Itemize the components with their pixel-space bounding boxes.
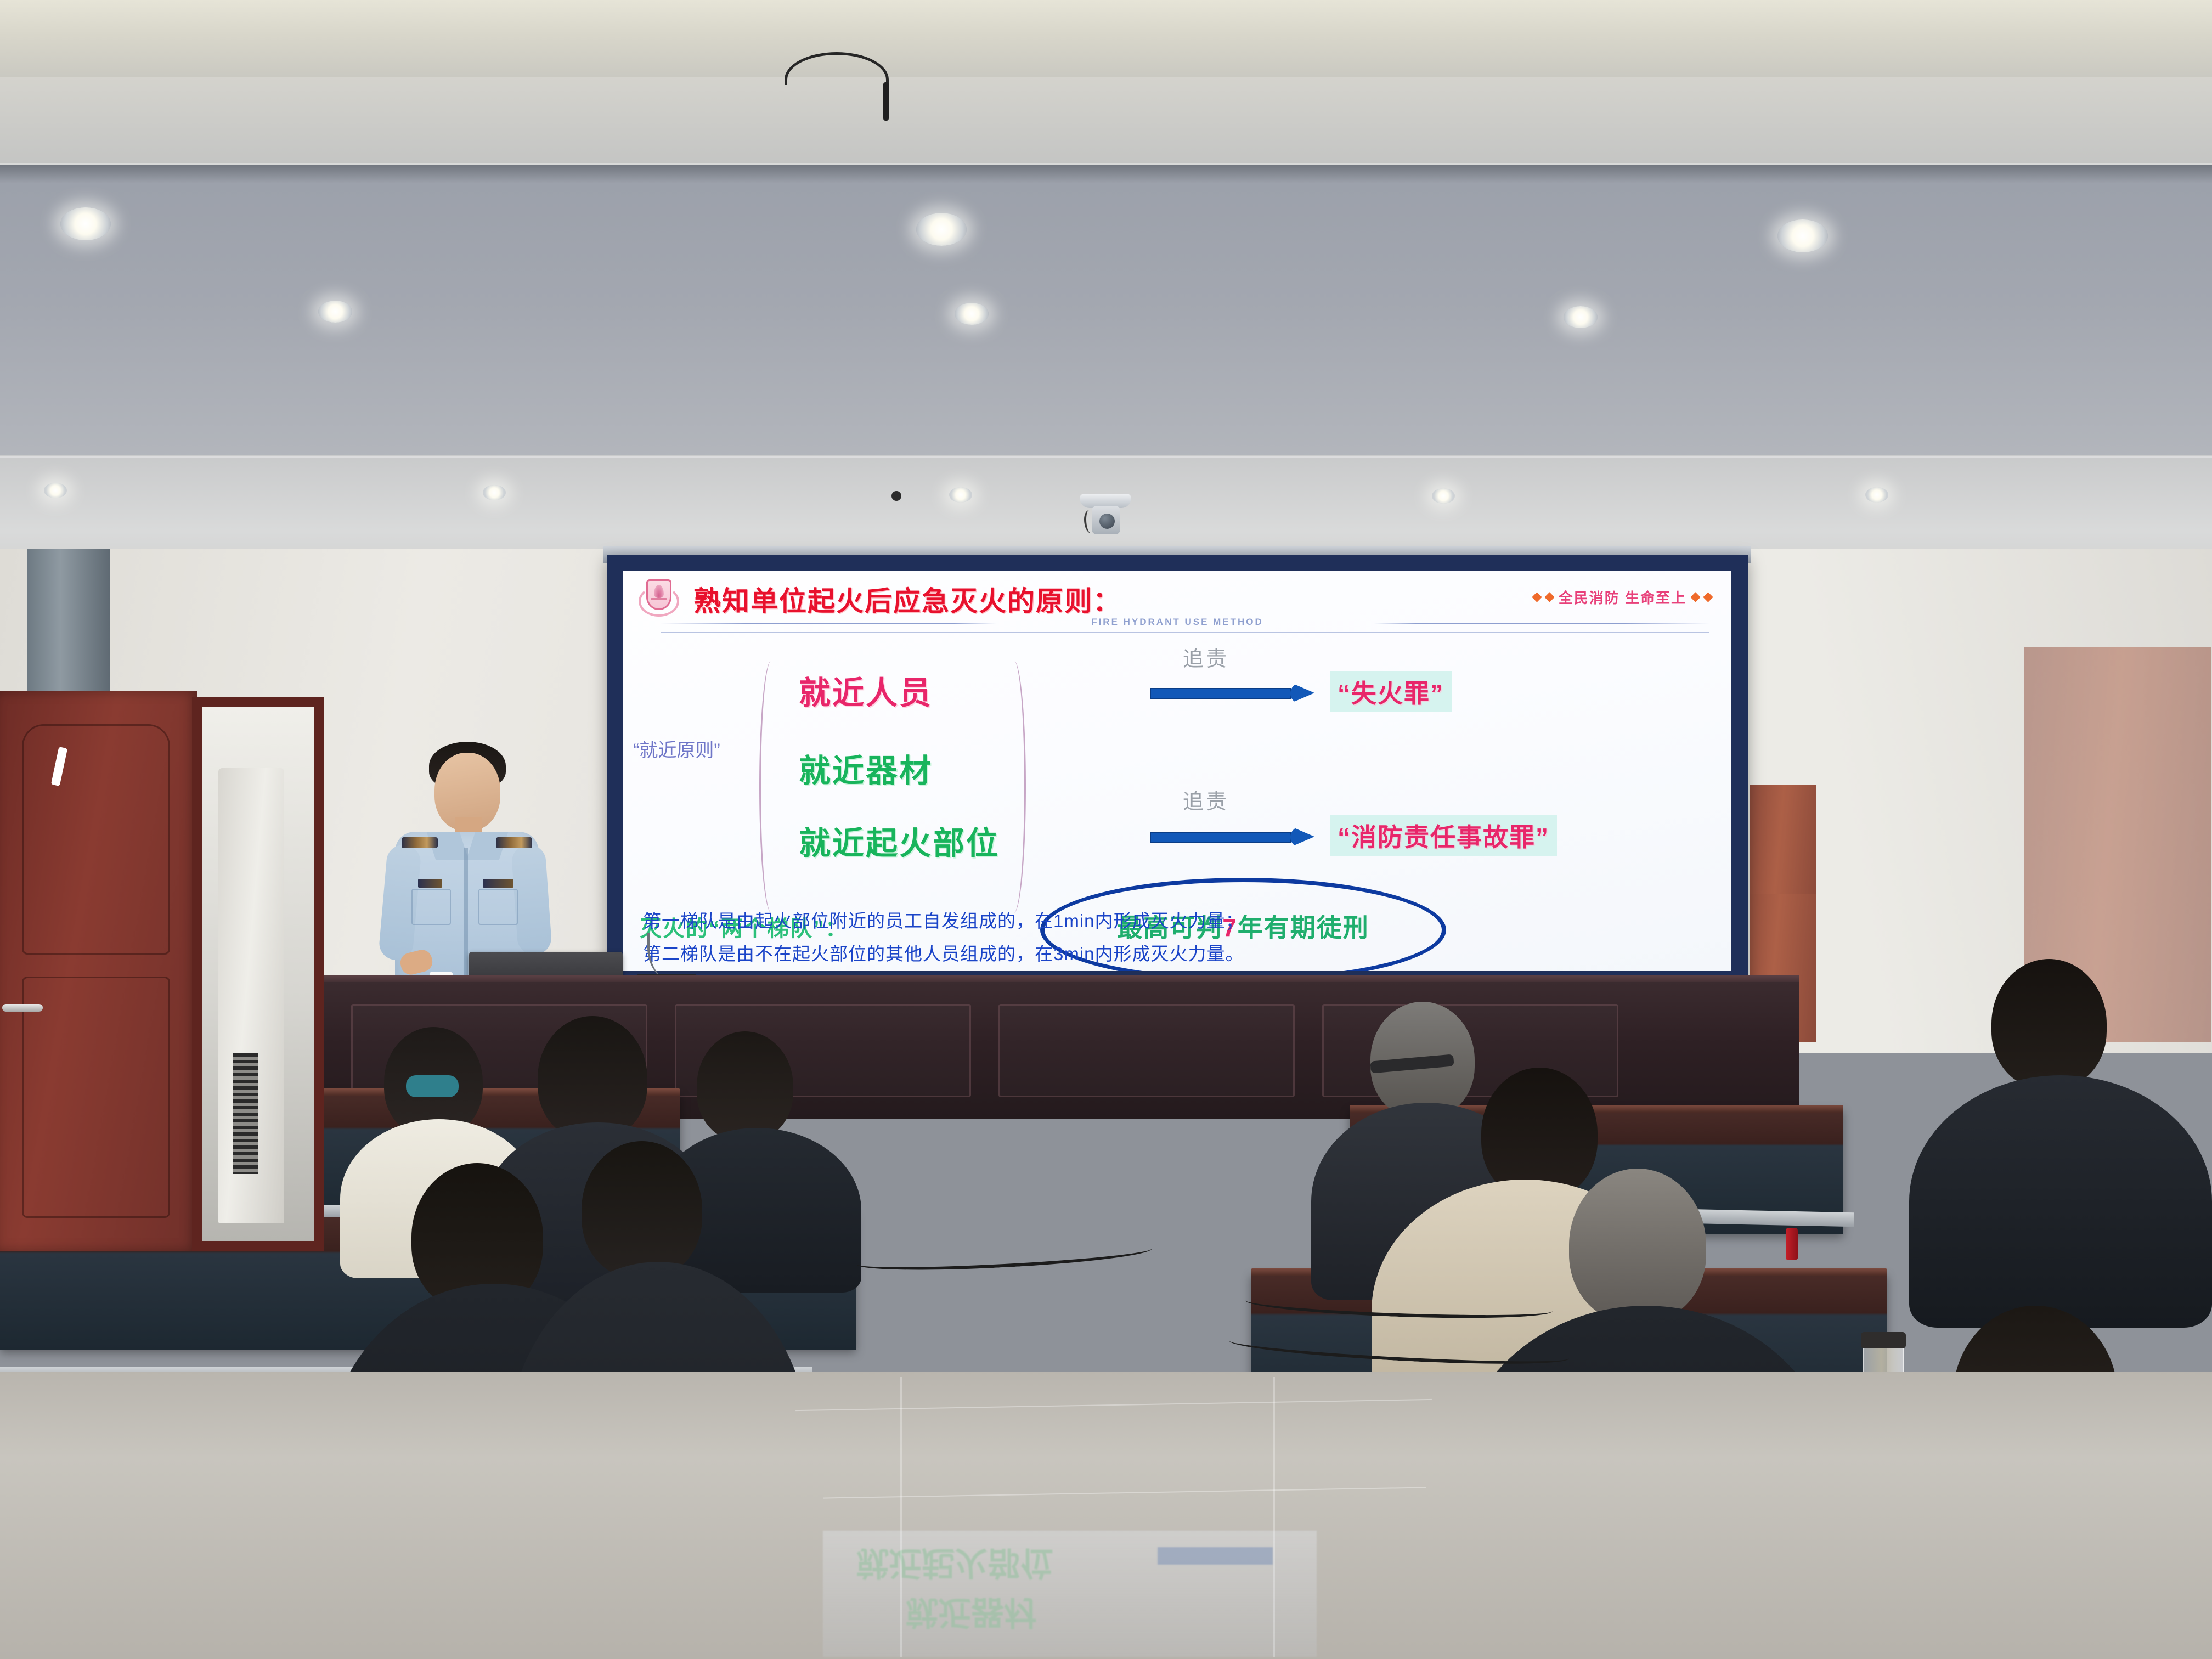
diamond-icon-4	[1703, 592, 1713, 602]
header-rule-2	[661, 632, 1709, 633]
hair-scrunchie	[406, 1075, 459, 1097]
reflection-line-2: 就近器材	[905, 1591, 1037, 1639]
ceiling-downlight-6	[1564, 306, 1598, 328]
ceiling-second-band	[0, 77, 2212, 176]
ceiling-downlight-1	[60, 207, 111, 240]
diamond-icon-3	[1690, 592, 1700, 602]
slide-title: 熟知单位起火后应急灭火的原则：	[693, 579, 1121, 619]
door-panel-upper	[22, 724, 170, 955]
entrance-door[interactable]	[0, 691, 198, 1251]
presenter-name-badge	[483, 879, 513, 888]
ceiling-downlight-4	[318, 301, 352, 323]
presenter-epaulet-left	[402, 837, 438, 848]
attendee-head	[538, 1016, 647, 1140]
attendee-head	[582, 1141, 702, 1278]
arrow-head-1	[1290, 682, 1314, 703]
floor-reflection: 就近起火部位 就近器材	[823, 1531, 1317, 1657]
door-panel-lower	[22, 977, 170, 1218]
arrow-head-2	[1290, 826, 1314, 847]
fire-extinguisher-2	[1786, 1228, 1798, 1260]
presenter-chest-insignia	[418, 879, 442, 888]
arrow-shaft-2	[1150, 832, 1291, 843]
ceiling-downlight-10	[1432, 488, 1455, 504]
camera-wire	[1084, 510, 1096, 533]
presenter-shirt-placket	[464, 848, 468, 996]
attendee-head	[697, 1031, 793, 1141]
camera-lens-icon	[1099, 513, 1115, 529]
chase-label-2: 追责	[1183, 785, 1229, 815]
brace-right	[1002, 661, 1026, 913]
slide-subtitle-en: FIRE HYDRANT USE METHOD	[623, 617, 1731, 628]
ceiling-edge-line-2	[0, 456, 2212, 458]
diamond-icon-2	[1544, 592, 1554, 602]
ceiling-sensor	[891, 491, 901, 501]
podium-panel-3	[998, 1004, 1295, 1097]
outcome-1: “失火罪”	[1330, 672, 1452, 712]
wall-wood-column-1-upper	[1750, 785, 1816, 894]
principle-item-3: 就近起火部位	[799, 817, 1000, 864]
window-curtain	[27, 549, 110, 713]
principle-label: “就近原则”	[633, 735, 720, 762]
attendee-head	[1569, 1169, 1706, 1322]
arrow-icon-1	[1150, 685, 1314, 701]
conference-room-photo: 熟知单位起火后应急灭火的原则： 全民消防 生命至上 FIRE HYDRANT U…	[0, 0, 2212, 1659]
ceiling-cable-drop	[883, 82, 889, 121]
presenter-pocket-right	[478, 889, 518, 925]
attendee-shoulders	[1909, 1075, 2212, 1328]
principle-item-1: 就近人员	[799, 667, 933, 713]
presenter-pocket-left	[411, 889, 451, 925]
chase-label-1: 追责	[1183, 642, 1229, 672]
highlight-suffix: 年有期徒刑	[1238, 913, 1369, 942]
door-handle[interactable]	[2, 1004, 43, 1012]
ceiling-downlight-5	[955, 303, 989, 325]
ceiling-downlight-8	[483, 485, 506, 500]
emblem-bar	[651, 598, 667, 600]
arrow-shaft-1	[1150, 688, 1291, 699]
ceiling-downlight-9	[949, 487, 972, 503]
reflection-arrow	[1158, 1547, 1273, 1565]
slogan-text: 全民消防 生命至上	[1559, 587, 1686, 607]
presentation-slide: 熟知单位起火后应急灭火的原则： 全民消防 生命至上 FIRE HYDRANT U…	[623, 571, 1731, 971]
slide-slogan: 全民消防 生命至上	[1533, 587, 1712, 607]
arrow-icon-2	[1150, 828, 1314, 845]
air-conditioner-vent	[233, 1053, 258, 1174]
reflection-line-1: 就近起火部位	[856, 1542, 1053, 1589]
outcome-2: “消防责任事故罪”	[1330, 815, 1557, 856]
ceiling-downlight-11	[1865, 487, 1888, 503]
ceiling-downlight-3	[1778, 219, 1828, 252]
ceiling-downlight-2	[916, 213, 967, 246]
presenter-epaulet-right	[496, 837, 532, 848]
water-bottle-3-cap	[1861, 1332, 1906, 1348]
diamond-icon-1	[1532, 592, 1542, 602]
ceiling-downlight-7	[44, 483, 67, 498]
floor-cable-3	[855, 1238, 1152, 1275]
brace-left	[759, 661, 783, 913]
fire-shield-emblem-icon	[639, 577, 679, 622]
slide-paragraph-2: 第二梯队是由不在起火部位的其他人员组成的，在3min内形成灭火力量。	[643, 939, 1244, 966]
ceiling-edge-line-1	[0, 163, 2212, 165]
slide-paragraph-1: 第一梯队是由起火部位附近的员工自发组成的，在1min内形成灭火力量；	[643, 906, 1244, 933]
attendee-head	[1991, 959, 2107, 1088]
ceiling-recess-shadow	[0, 165, 2212, 183]
principle-item-2: 就近器材	[799, 745, 933, 791]
attendee-head	[1481, 1068, 1598, 1199]
ceiling-security-camera	[1075, 494, 1136, 544]
ceiling-upper-band	[0, 0, 2212, 82]
